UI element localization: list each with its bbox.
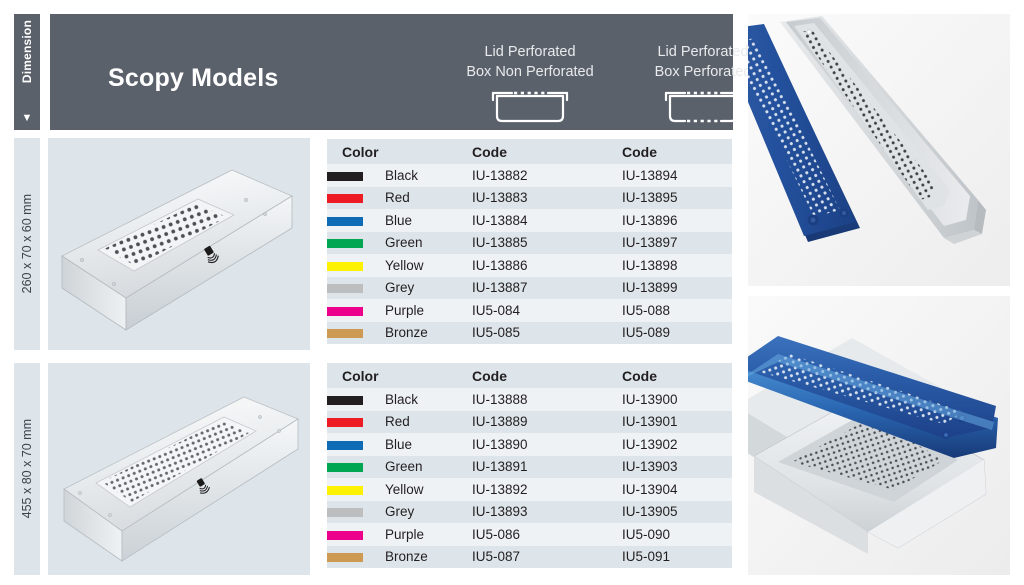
color-swatch [327, 418, 363, 427]
color-name: Grey [385, 277, 472, 300]
color-name: Yellow [385, 254, 472, 277]
code-non-perforated: IU-13882 [472, 164, 622, 187]
code-non-perforated: IU5-084 [472, 299, 622, 322]
color-swatch [327, 329, 363, 338]
code-perforated: IU-13905 [622, 501, 732, 524]
table-row[interactable]: Black IU-13888 IU-13900 [327, 388, 732, 411]
color-swatch [327, 262, 363, 271]
title-band: Scopy Models Lid Perforated Box Non Perf… [50, 14, 733, 130]
column-header-code-1: Code [472, 363, 622, 388]
photo-panel-blue-lid-and-open-tray [748, 14, 1010, 286]
color-swatch-cell [327, 433, 385, 456]
table-row[interactable]: Grey IU-13893 IU-13905 [327, 501, 732, 524]
code-non-perforated: IU5-086 [472, 523, 622, 546]
code-non-perforated: IU-13889 [472, 411, 622, 434]
code-non-perforated: IU-13885 [472, 232, 622, 255]
code-non-perforated: IU5-085 [472, 322, 622, 345]
color-name: Black [385, 164, 472, 187]
dimension-value: 455 x 80 x 70 mm [20, 419, 34, 518]
dimension-value: 260 x 70 x 60 mm [20, 194, 34, 293]
dimension-tab-label: Dimension [20, 20, 34, 83]
color-swatch [327, 486, 363, 495]
table-row[interactable]: Green IU-13891 IU-13903 [327, 456, 732, 479]
column-header-line2: Box Non Perforated [435, 62, 625, 82]
column-header-code-2: Code [622, 139, 732, 164]
table-header-row: Color Code Code [327, 363, 732, 388]
color-swatch [327, 307, 363, 316]
code-table-260: Color Code Code Black IU-13882 IU-13894 … [327, 139, 732, 344]
color-name: Red [385, 411, 472, 434]
color-swatch-cell [327, 388, 385, 411]
color-name: Red [385, 187, 472, 210]
table-row[interactable]: Yellow IU-13892 IU-13904 [327, 478, 732, 501]
column-header-line1: Lid Perforated [435, 42, 625, 62]
color-swatch-cell [327, 299, 385, 322]
table-header-row: Color Code Code [327, 139, 732, 164]
scopy-box-455-image [48, 363, 310, 575]
table-row[interactable]: Yellow IU-13886 IU-13898 [327, 254, 732, 277]
column-header-code-1: Code [472, 139, 622, 164]
blue-lid-over-tray-photo [748, 296, 1010, 575]
table-row[interactable]: Bronze IU5-085 IU5-089 [327, 322, 732, 345]
code-perforated: IU-13897 [622, 232, 732, 255]
table-row[interactable]: Blue IU-13884 IU-13896 [327, 209, 732, 232]
color-swatch-cell [327, 164, 385, 187]
column-header-lid-perforated-box-non-perforated: Lid Perforated Box Non Perforated [435, 42, 625, 126]
color-swatch [327, 284, 363, 293]
color-swatch-cell [327, 456, 385, 479]
color-swatch [327, 531, 363, 540]
column-header-color: Color [327, 139, 472, 164]
box-lid-perforated-icon [488, 88, 572, 126]
code-perforated: IU-13896 [622, 209, 732, 232]
color-name: Bronze [385, 322, 472, 345]
dimension-label-260: 260 x 70 x 60 mm [14, 138, 40, 350]
code-non-perforated: IU-13883 [472, 187, 622, 210]
color-name: Green [385, 456, 472, 479]
code-perforated: IU-13899 [622, 277, 732, 300]
product-image-panel-455 [48, 363, 310, 575]
column-header-code-2: Code [622, 363, 732, 388]
photo-panel-blue-lid-over-tray [748, 296, 1010, 575]
color-swatch-cell [327, 232, 385, 255]
code-non-perforated: IU-13891 [472, 456, 622, 479]
code-non-perforated: IU-13886 [472, 254, 622, 277]
color-swatch-cell [327, 187, 385, 210]
dimension-label-455: 455 x 80 x 70 mm [14, 363, 40, 575]
dimension-tab[interactable]: Dimension ▼ [14, 14, 40, 130]
color-swatch-cell [327, 411, 385, 434]
code-perforated: IU5-088 [622, 299, 732, 322]
product-image-panel-260 [48, 138, 310, 350]
code-perforated: IU5-091 [622, 546, 732, 569]
color-swatch [327, 553, 363, 562]
color-swatch-cell [327, 254, 385, 277]
color-swatch-cell [327, 546, 385, 569]
table-row[interactable]: Black IU-13882 IU-13894 [327, 164, 732, 187]
color-swatch [327, 172, 363, 181]
code-perforated: IU-13901 [622, 411, 732, 434]
color-swatch [327, 217, 363, 226]
table-row[interactable]: Red IU-13889 IU-13901 [327, 411, 732, 434]
color-name: Black [385, 388, 472, 411]
code-perforated: IU-13900 [622, 388, 732, 411]
color-swatch [327, 463, 363, 472]
color-swatch-cell [327, 523, 385, 546]
code-perforated: IU-13894 [622, 164, 732, 187]
color-name: Yellow [385, 478, 472, 501]
color-swatch [327, 508, 363, 517]
code-perforated: IU-13898 [622, 254, 732, 277]
color-name: Purple [385, 299, 472, 322]
box-lid-and-box-perforated-icon [661, 88, 745, 126]
table-row[interactable]: Red IU-13883 IU-13895 [327, 187, 732, 210]
code-non-perforated: IU5-087 [472, 546, 622, 569]
color-swatch-cell [327, 478, 385, 501]
code-perforated: IU-13902 [622, 433, 732, 456]
table-row[interactable]: Bronze IU5-087 IU5-091 [327, 546, 732, 569]
code-non-perforated: IU-13893 [472, 501, 622, 524]
table-row[interactable]: Green IU-13885 IU-13897 [327, 232, 732, 255]
code-perforated: IU-13903 [622, 456, 732, 479]
page-title: Scopy Models [108, 64, 279, 93]
code-non-perforated: IU-13888 [472, 388, 622, 411]
code-non-perforated: IU-13884 [472, 209, 622, 232]
color-swatch [327, 441, 363, 450]
caret-down-icon: ▼ [22, 113, 33, 124]
color-name: Green [385, 232, 472, 255]
table-row[interactable]: Purple IU5-086 IU5-090 [327, 523, 732, 546]
code-perforated: IU-13895 [622, 187, 732, 210]
color-swatch [327, 239, 363, 248]
scopy-box-260-image [48, 138, 310, 350]
color-swatch [327, 396, 363, 405]
color-name: Grey [385, 501, 472, 524]
code-non-perforated: IU-13887 [472, 277, 622, 300]
color-name: Bronze [385, 546, 472, 569]
column-header-color: Color [327, 363, 472, 388]
color-swatch-cell [327, 209, 385, 232]
blue-lid-and-open-tray-photo [748, 14, 1010, 286]
table-row[interactable]: Purple IU5-084 IU5-088 [327, 299, 732, 322]
code-non-perforated: IU-13892 [472, 478, 622, 501]
code-non-perforated: IU-13890 [472, 433, 622, 456]
color-swatch [327, 194, 363, 203]
table-row[interactable]: Blue IU-13890 IU-13902 [327, 433, 732, 456]
code-table-455: Color Code Code Black IU-13888 IU-13900 … [327, 363, 732, 568]
color-swatch-cell [327, 501, 385, 524]
code-perforated: IU-13904 [622, 478, 732, 501]
color-name: Blue [385, 433, 472, 456]
code-perforated: IU5-090 [622, 523, 732, 546]
color-swatch-cell [327, 322, 385, 345]
color-name: Purple [385, 523, 472, 546]
color-name: Blue [385, 209, 472, 232]
table-row[interactable]: Grey IU-13887 IU-13899 [327, 277, 732, 300]
code-perforated: IU5-089 [622, 322, 732, 345]
color-swatch-cell [327, 277, 385, 300]
